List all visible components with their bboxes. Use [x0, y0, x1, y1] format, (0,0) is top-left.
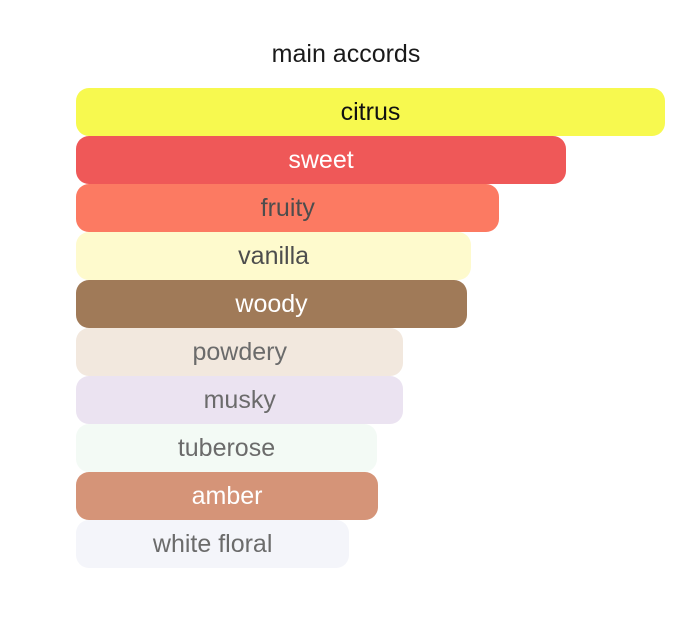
bar-row[interactable]: musky: [76, 376, 692, 424]
bar-rect[interactable]: [76, 424, 377, 472]
chart-title: main accords: [0, 38, 692, 70]
bars-container: citrussweetfruityvanillawoodypowderymusk…: [76, 88, 692, 568]
bar-rect[interactable]: [76, 376, 403, 424]
bar-row[interactable]: fruity: [76, 184, 692, 232]
bar-row[interactable]: woody: [76, 280, 692, 328]
bar-rect[interactable]: [76, 328, 403, 376]
main-accords-chart: main accords citrussweetfruityvanillawoo…: [0, 0, 692, 636]
bar-rect[interactable]: [76, 280, 467, 328]
bar-row[interactable]: white floral: [76, 520, 692, 568]
bar-row[interactable]: powdery: [76, 328, 692, 376]
bar-row[interactable]: tuberose: [76, 424, 692, 472]
bar-rect[interactable]: [76, 136, 566, 184]
bar-rect[interactable]: [76, 184, 499, 232]
bar-rect[interactable]: [76, 520, 349, 568]
bar-row[interactable]: vanilla: [76, 232, 692, 280]
bar-row[interactable]: amber: [76, 472, 692, 520]
bar-row[interactable]: sweet: [76, 136, 692, 184]
bar-rect[interactable]: [76, 88, 665, 136]
bar-row[interactable]: citrus: [76, 88, 692, 136]
bar-rect[interactable]: [76, 472, 378, 520]
bar-rect[interactable]: [76, 232, 471, 280]
